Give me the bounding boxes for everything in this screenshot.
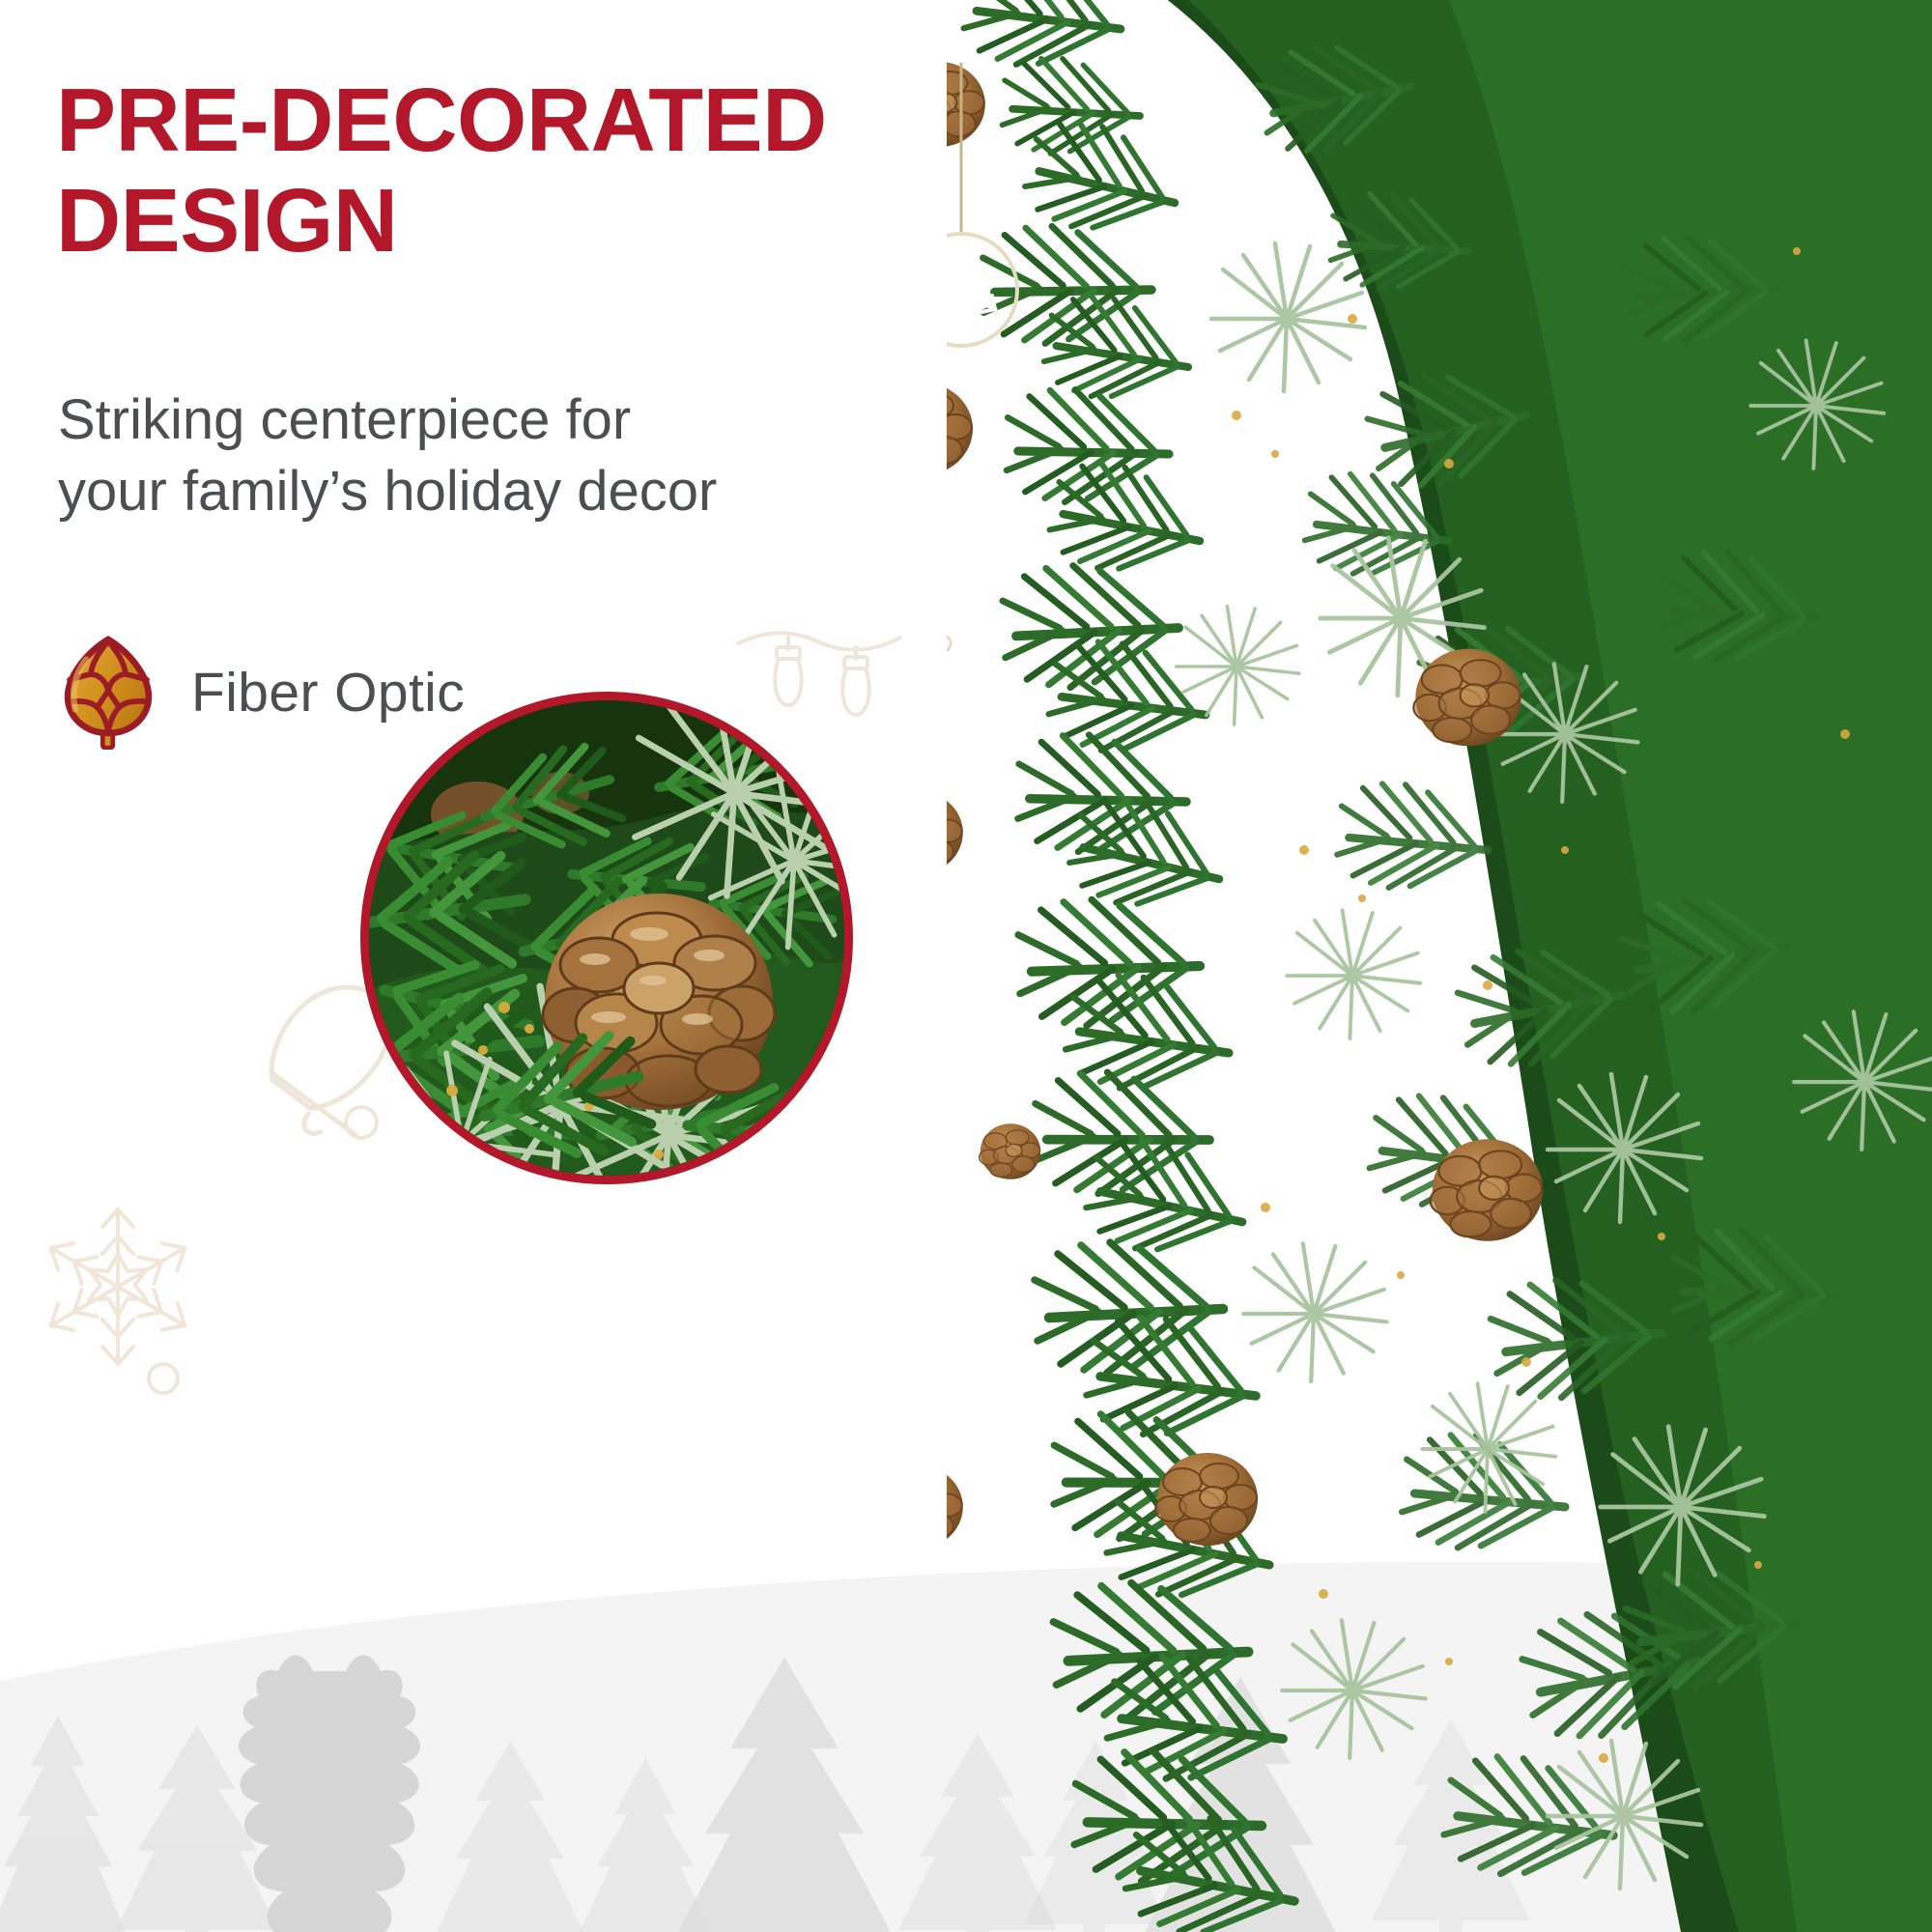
pinecone-ornament	[947, 791, 963, 874]
detail-pinecone	[543, 894, 775, 1110]
tree-silhouette	[437, 1741, 583, 1932]
feature-badge: Fiber Optic	[58, 636, 465, 750]
detail-zoom-photo	[369, 700, 844, 1176]
pinecone-ornament	[947, 383, 973, 475]
tree-silhouette-fluffy	[239, 1656, 420, 1932]
promo-banner: PRE-DECORATED DESIGN Striking centerpiec…	[0, 0, 1932, 1932]
small-circle-icon	[141, 1356, 185, 1401]
tree-silhouette	[116, 1725, 278, 1932]
subheadline-line-1: Striking centerpiece for	[58, 384, 947, 456]
headline-line-1: PRE-DECORATED	[56, 70, 1022, 170]
feature-badge-label: Fiber Optic	[191, 661, 465, 724]
snowflake-icon	[21, 1190, 214, 1383]
pinecone-icon	[58, 636, 158, 750]
pinecone-ornament	[947, 1465, 963, 1548]
subheadline: Striking centerpiece for your family’s h…	[58, 384, 947, 527]
tree-silhouette	[676, 1658, 893, 1932]
christmas-tree-illustration	[947, 0, 1932, 1932]
tree-silhouette	[580, 1758, 711, 1932]
pinecone-ornament	[1155, 1453, 1258, 1546]
subheadline-line-2: your family’s holiday decor	[58, 456, 947, 527]
snowflake-ornament	[947, 535, 971, 652]
headline-line-2: DESIGN	[56, 170, 1022, 270]
page-title: PRE-DECORATED DESIGN	[56, 70, 1022, 270]
pinecone-detail-zoom	[360, 692, 853, 1184]
pinecone-ornament	[980, 1123, 1041, 1179]
christmas-tree-photo	[947, 0, 1932, 1932]
bauble-icon	[334, 1094, 388, 1148]
tree-silhouette	[0, 1716, 126, 1932]
